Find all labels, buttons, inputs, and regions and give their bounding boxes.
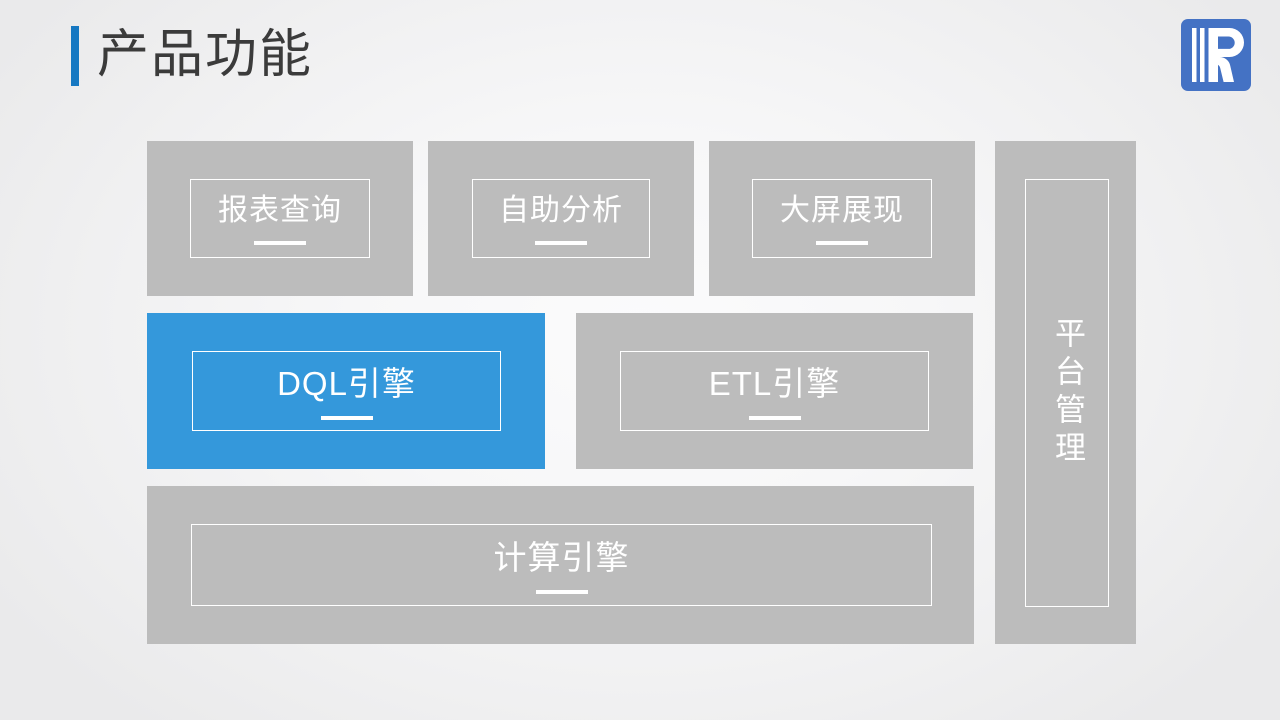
feature-card-label: 计算引擎 <box>494 537 630 579</box>
feature-card-inner: 平台管理 <box>1025 179 1109 607</box>
feature-card-label: DQL引擎 <box>277 363 416 405</box>
feature-card-inner: 自助分析 <box>472 179 650 258</box>
feature-board: 报表查询 自助分析 大屏展现 DQL引擎 ETL引擎 <box>147 141 1136 644</box>
slide-canvas: 产品功能 报表查询 自助分析 <box>0 0 1280 720</box>
feature-card-label: ETL引擎 <box>709 363 841 405</box>
company-logo <box>1181 19 1251 91</box>
feature-card-inner: ETL引擎 <box>620 351 929 431</box>
label-underline <box>254 241 306 245</box>
feature-card-inner: 计算引擎 <box>191 524 932 606</box>
feature-card-report[interactable]: 报表查询 <box>147 141 413 296</box>
label-underline <box>536 590 588 594</box>
feature-card-compute-engine[interactable]: 计算引擎 <box>147 486 974 644</box>
feature-card-inner: 大屏展现 <box>752 179 932 258</box>
feature-card-label: 自助分析 <box>499 192 623 230</box>
company-logo-icon <box>1181 19 1251 91</box>
page-title: 产品功能 <box>97 17 313 93</box>
feature-card-inner: DQL引擎 <box>192 351 501 431</box>
feature-card-label: 大屏展现 <box>780 192 904 230</box>
label-underline <box>816 241 868 245</box>
feature-card-label: 报表查询 <box>218 192 342 230</box>
feature-card-etl-engine[interactable]: ETL引擎 <box>576 313 973 469</box>
feature-card-platform-management[interactable]: 平台管理 <box>995 141 1136 644</box>
label-underline <box>535 241 587 245</box>
slide-header: 产品功能 <box>0 0 1280 112</box>
feature-card-inner: 报表查询 <box>190 179 370 258</box>
feature-card-big-screen-display[interactable]: 大屏展现 <box>709 141 975 296</box>
label-underline <box>749 416 801 420</box>
feature-card-dql-engine[interactable]: DQL引擎 <box>147 313 545 469</box>
title-accent-bar <box>71 26 79 86</box>
feature-card-self-service-analysis[interactable]: 自助分析 <box>428 141 694 296</box>
feature-card-label: 平台管理 <box>1045 317 1089 469</box>
label-underline <box>321 416 373 420</box>
